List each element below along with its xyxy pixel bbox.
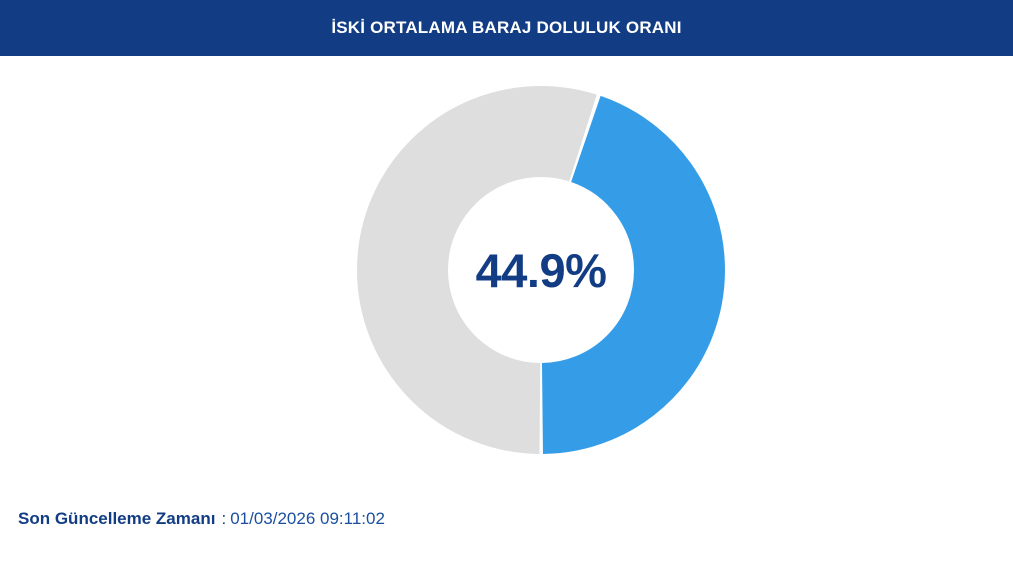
donut-svg — [357, 86, 725, 454]
page-header: İSKİ ORTALAMA BARAJ DOLULUK ORANI — [0, 0, 1013, 56]
last-update-separator: : — [215, 509, 230, 529]
last-update-row: Son Güncelleme Zamanı : 01/03/2026 09:11… — [18, 509, 385, 529]
chart-area: 44.9% — [0, 56, 1013, 496]
dam-occupancy-donut-chart: 44.9% — [357, 86, 725, 454]
last-update-value: 01/03/2026 09:11:02 — [230, 509, 385, 529]
page-title: İSKİ ORTALAMA BARAJ DOLULUK ORANI — [331, 18, 681, 38]
last-update-label: Son Güncelleme Zamanı — [18, 509, 215, 529]
